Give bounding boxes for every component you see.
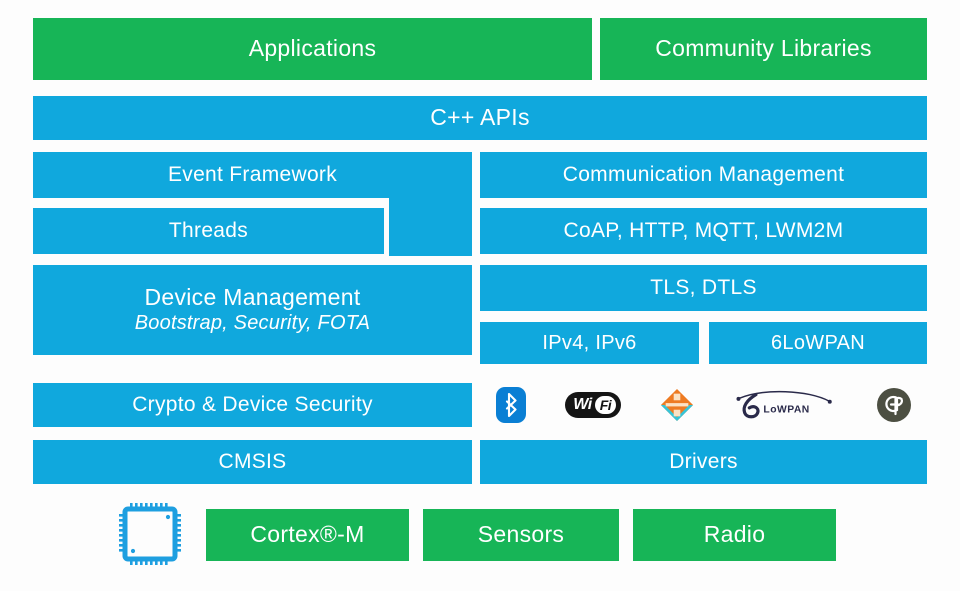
- sixlowpan-wordmark: LoWPAN: [763, 405, 809, 416]
- block-cortex-m[interactable]: Cortex®-M: [206, 509, 409, 561]
- block-label: TLS, DTLS: [650, 276, 757, 300]
- microcontroller-chip-icon: [119, 503, 181, 565]
- block-label: Device Management: [144, 285, 360, 311]
- block-crypto-device-security[interactable]: Crypto & Device Security: [33, 383, 472, 427]
- block-device-management[interactable]: Device Management Bootstrap, Security, F…: [33, 265, 472, 355]
- greenpeak-glyph: [881, 392, 907, 418]
- architecture-stack-diagram: Applications Community Libraries C++ API…: [0, 0, 960, 591]
- block-sublabel: Bootstrap, Security, FOTA: [135, 312, 370, 334]
- block-label: Applications: [249, 36, 377, 62]
- greenpeak-icon: [877, 388, 911, 422]
- block-label: Event Framework: [168, 163, 337, 187]
- block-label: CMSIS: [218, 450, 286, 474]
- wifi-icon: Wi Fi: [565, 392, 621, 418]
- block-ipv4-ipv6[interactable]: IPv4, IPv6: [480, 322, 699, 364]
- block-applications[interactable]: Applications: [33, 18, 592, 80]
- bluetooth-glyph: [504, 393, 519, 417]
- block-label: CoAP, HTTP, MQTT, LWM2M: [564, 219, 844, 243]
- block-label: Sensors: [478, 522, 564, 548]
- block-event-framework[interactable]: Event Framework: [33, 152, 472, 198]
- sixlowpan-icon: LoWPAN: [734, 389, 838, 421]
- block-label: Communication Management: [563, 163, 845, 187]
- block-label: Drivers: [669, 450, 738, 474]
- block-cmsis[interactable]: CMSIS: [33, 440, 472, 484]
- block-event-framework-leg[interactable]: [389, 198, 472, 256]
- thread-icon: [660, 388, 694, 422]
- radio-technology-icon-row: Wi Fi LoWPAN: [480, 383, 927, 427]
- block-label: Crypto & Device Security: [132, 393, 373, 417]
- block-label: Radio: [704, 522, 766, 548]
- block-label: Threads: [169, 219, 248, 243]
- block-threads[interactable]: Threads: [33, 208, 384, 254]
- sixlowpan-glyph: LoWPAN: [734, 389, 838, 421]
- block-label: IPv4, IPv6: [542, 332, 636, 354]
- thread-diamond-glyph: [660, 388, 694, 422]
- block-radio[interactable]: Radio: [633, 509, 836, 561]
- block-community-libraries[interactable]: Community Libraries: [600, 18, 927, 80]
- wifi-label-wi: Wi: [573, 396, 591, 414]
- block-label: Community Libraries: [655, 36, 872, 62]
- block-cpp-apis[interactable]: C++ APIs: [33, 96, 927, 140]
- block-sensors[interactable]: Sensors: [423, 509, 619, 561]
- block-coap-http-mqtt-lwm2m[interactable]: CoAP, HTTP, MQTT, LWM2M: [480, 208, 927, 254]
- block-tls-dtls[interactable]: TLS, DTLS: [480, 265, 927, 311]
- wifi-label-fi: Fi: [595, 396, 616, 414]
- block-6lowpan[interactable]: 6LoWPAN: [709, 322, 927, 364]
- block-label: 6LoWPAN: [771, 332, 865, 354]
- block-drivers[interactable]: Drivers: [480, 440, 927, 484]
- block-label: Cortex®-M: [250, 522, 364, 548]
- block-communication-management[interactable]: Communication Management: [480, 152, 927, 198]
- bluetooth-icon: [496, 387, 526, 423]
- block-label: C++ APIs: [430, 105, 530, 131]
